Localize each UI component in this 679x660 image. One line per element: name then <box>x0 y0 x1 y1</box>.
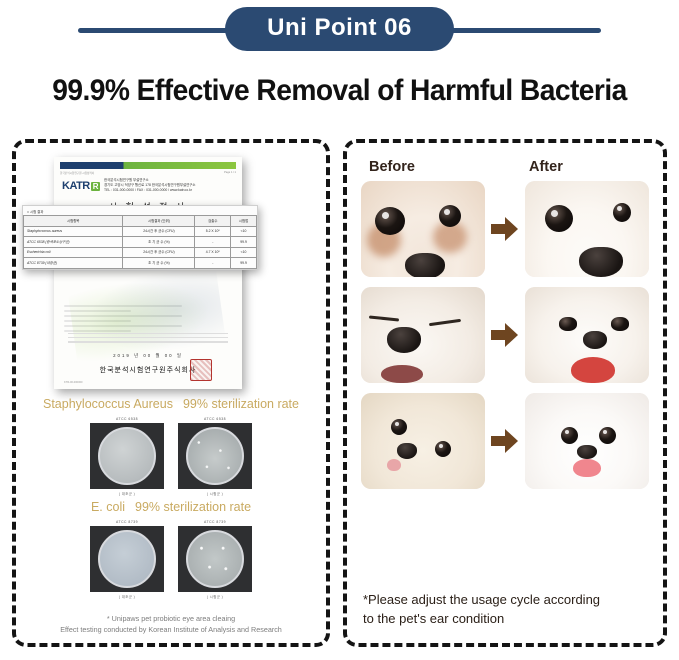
lab-results-panel: 한국분석시험연구원 시험성적서 Page 1 / 1 KATRR 한국분석시험연… <box>12 139 330 647</box>
before-label: Before <box>347 159 505 175</box>
ecoli-rate: 99% sterilization rate <box>135 500 251 514</box>
dish-sublabel: ( 시험군 ) <box>178 491 252 496</box>
ecoli-test-label: E. coli99% sterilization rate <box>16 500 326 514</box>
dish-caption: ATCC 8739 <box>178 520 252 524</box>
ecoli-dish-row: ATCC 8739 ( 대조군 ) ATCC 8739 ( 시험군 ) <box>16 520 326 599</box>
petri-dish-cell: ATCC 6538 ( 대조군 ) <box>90 417 164 496</box>
after-photo-1 <box>525 181 649 277</box>
banner-ribbon-left <box>78 28 228 33</box>
staph-organism-name: Staphylococcus Aureus <box>43 397 173 411</box>
staph-test-label: Staphylococcus Aureus99% sterilization r… <box>16 397 326 411</box>
table-header-row: 시험항목 시험결과 (단위) 검출수 시험법 <box>24 216 257 227</box>
certificate-logo-row: KATRR 한국분석시험연구원 부설연구소 경기도 고양시 덕양구 행신로 17… <box>62 178 234 193</box>
before-after-row <box>347 393 663 489</box>
dish-caption: ATCC 8739 <box>90 520 164 524</box>
table-row: Escherichia coli 24시간 후 균수 (CFU) 4.7 X 1… <box>24 247 257 258</box>
results-grid: 시험항목 시험결과 (단위) 검출수 시험법 Staphylococcus au… <box>23 215 257 269</box>
staph-dish-row: ATCC 6538 ( 대조군 ) ATCC 6538 ( 시험군 ) <box>16 417 326 496</box>
dish-sublabel: ( 시험군 ) <box>178 594 252 599</box>
footnote-line-2: Effect testing conducted by Korean Insti… <box>22 624 320 635</box>
page-title: 99.9% Effective Removal of Harmful Bacte… <box>20 74 658 108</box>
after-photo-3 <box>525 393 649 489</box>
method-cell: 99.9 <box>231 258 257 269</box>
usage-note-line-1: *Please adjust the usage cycle according <box>363 591 653 610</box>
before-after-row <box>347 287 663 383</box>
dish-photo <box>90 526 164 592</box>
arrow-right-icon <box>491 428 519 454</box>
certificate-area: 한국분석시험연구원 시험성적서 Page 1 / 1 KATRR 한국분석시험연… <box>16 143 326 393</box>
value-cell: - <box>195 258 231 269</box>
test-certificate-document: 한국분석시험연구원 시험성적서 Page 1 / 1 KATRR 한국분석시험연… <box>54 157 242 389</box>
method-cell: <10 <box>231 226 257 237</box>
certificate-doc-code: KTR-00-000000 <box>64 381 82 384</box>
condition-cell: 24시간 후 균수 (CFU) <box>123 247 195 258</box>
certificate-org-line3: TEL : 031-000-0000 / FAX : 031-000-0000 … <box>104 188 195 193</box>
before-photo-2 <box>361 287 485 383</box>
table-row: ATCC 6538 (황색포도상구균) 초 기 균 수 (%) - 99.9 <box>24 237 257 248</box>
usage-note: *Please adjust the usage cycle according… <box>363 591 653 629</box>
column-header: 검출수 <box>195 216 231 227</box>
petri-dish-icon <box>98 530 156 588</box>
dish-photo <box>178 526 252 592</box>
arrow-right-icon <box>491 216 519 242</box>
column-header: 시험법 <box>231 216 257 227</box>
certificate-footnote-lines <box>68 333 228 345</box>
table-row: ATCC 8739 (대장균) 초 기 균 수 (%) - 99.9 <box>24 258 257 269</box>
banner-ribbon-right <box>451 28 601 33</box>
dish-caption: ATCC 6538 <box>178 417 252 421</box>
strain-cell: ATCC 8739 (대장균) <box>24 258 123 269</box>
certificate-signature: 한국분석시험연구원주식회사 <box>54 365 242 375</box>
certificate-date: 2019 년 00 월 00 일 <box>54 353 242 359</box>
petri-dish-cell: ATCC 8739 ( 대조군 ) <box>90 520 164 599</box>
test-results-table: □ 시험 결과 시험항목 시험결과 (단위) 검출수 시험법 Staphyloc… <box>22 205 258 270</box>
before-after-panel: Before After <box>343 139 667 647</box>
column-header: 시험항목 <box>24 216 123 227</box>
petri-dish-cell: ATCC 8739 ( 시험군 ) <box>178 520 252 599</box>
certificate-header-text: 한국분석시험연구원 시험성적서 <box>60 171 94 175</box>
dish-caption: ATCC 6538 <box>90 417 164 421</box>
petri-dish-icon <box>186 530 244 588</box>
registered-mark-icon: R <box>91 182 100 191</box>
certificate-org-block: 한국분석시험연구원 부설연구소 경기도 고양시 덕양구 행신로 178 한국분석… <box>104 178 195 193</box>
table-row: Staphylococcus aureus 24시간 후 균수 (CFU) 5.… <box>24 226 257 237</box>
certificate-color-bar <box>60 162 236 169</box>
organism-cell: Staphylococcus aureus <box>24 226 123 237</box>
official-seal-icon <box>190 359 212 381</box>
certificate-header-note: 한국분석시험연구원 시험성적서 Page 1 / 1 <box>60 171 236 175</box>
footnote-line-1: * Unipaws pet probiotic eye area cleaing <box>22 613 320 624</box>
value-cell: - <box>195 237 231 248</box>
arrow-right-icon <box>491 322 519 348</box>
method-cell: <10 <box>231 247 257 258</box>
column-header: 시험결과 (단위) <box>123 216 195 227</box>
katr-logo: KATRR <box>62 180 100 192</box>
page-banner: Uni Point 06 <box>0 0 679 58</box>
value-cell: 5.2 X 10⁵ <box>195 226 231 237</box>
organism-cell: Escherichia coli <box>24 247 123 258</box>
condition-cell: 초 기 균 수 (%) <box>123 237 195 248</box>
petri-dish-icon <box>186 427 244 485</box>
ecoli-organism-name: E. coli <box>91 500 125 514</box>
dish-sublabel: ( 대조군 ) <box>90 594 164 599</box>
petri-dish-cell: ATCC 6538 ( 시험군 ) <box>178 417 252 496</box>
usage-note-line-2: to the pet's ear condition <box>363 610 653 629</box>
dish-sublabel: ( 대조군 ) <box>90 491 164 496</box>
left-panel-footnote: * Unipaws pet probiotic eye area cleaing… <box>22 613 320 635</box>
condition-cell: 24시간 후 균수 (CFU) <box>123 226 195 237</box>
before-after-row <box>347 181 663 277</box>
after-photo-2 <box>525 287 649 383</box>
certificate-page-label: Page 1 / 1 <box>224 171 236 175</box>
strain-cell: ATCC 6538 (황색포도상구균) <box>24 237 123 248</box>
staph-rate: 99% sterilization rate <box>183 397 299 411</box>
dish-photo <box>178 423 252 489</box>
before-photo-1 <box>361 181 485 277</box>
banner-title: Uni Point 06 <box>225 7 454 51</box>
results-table-caption: □ 시험 결과 <box>23 206 257 215</box>
after-label: After <box>505 159 663 175</box>
dish-photo <box>90 423 164 489</box>
method-cell: 99.9 <box>231 237 257 248</box>
petri-dish-icon <box>98 427 156 485</box>
before-photo-3 <box>361 393 485 489</box>
content-panels: 한국분석시험연구원 시험성적서 Page 1 / 1 KATRR 한국분석시험연… <box>0 139 679 647</box>
value-cell: 4.7 X 10⁵ <box>195 247 231 258</box>
before-after-header: Before After <box>347 143 663 181</box>
condition-cell: 초 기 균 수 (%) <box>123 258 195 269</box>
